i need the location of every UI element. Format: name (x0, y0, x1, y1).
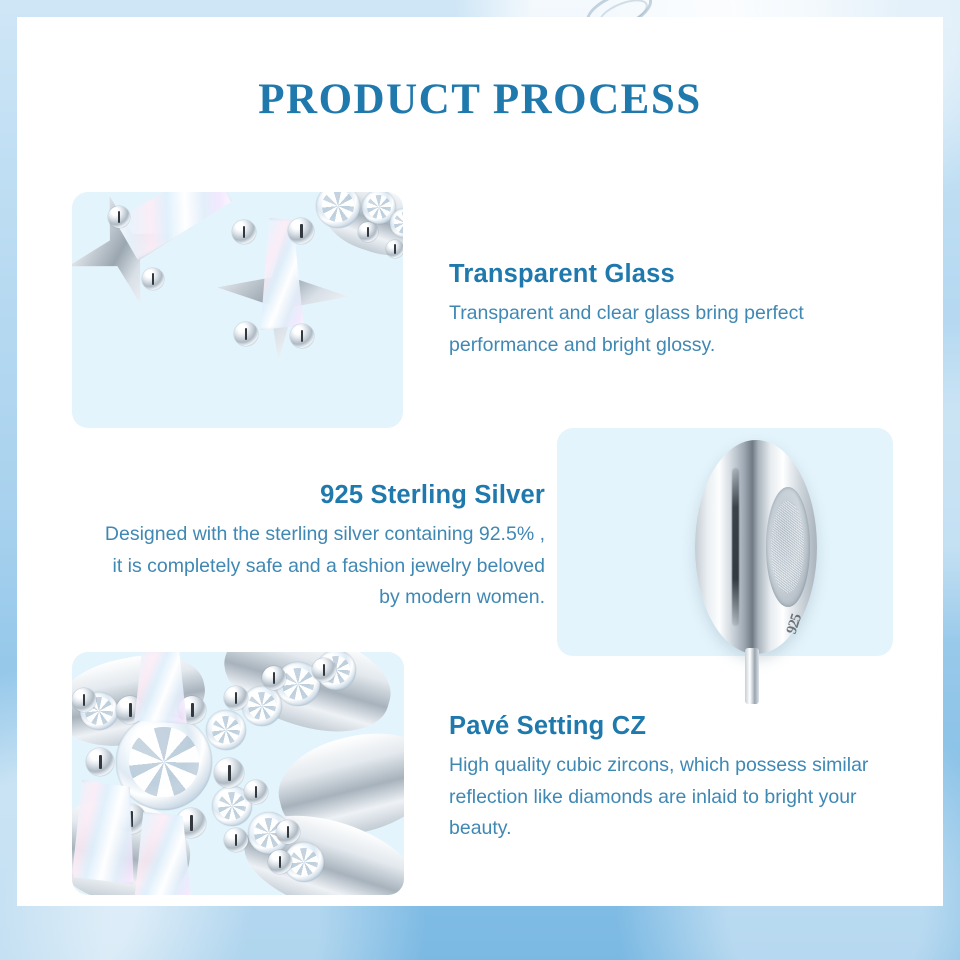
product-process-infographic: PRODUCT PROCESS (0, 0, 960, 960)
prong-bead (358, 222, 378, 242)
feature-text-pave-setting: Pavé Setting CZ High quality cubic zirco… (449, 712, 879, 845)
prong-bead (244, 780, 268, 804)
content-card: PRODUCT PROCESS (17, 17, 943, 906)
prong-bead (288, 218, 314, 244)
prong-bead (224, 686, 248, 710)
feature-heading: Pavé Setting CZ (449, 712, 879, 741)
center-cz-stone (116, 714, 212, 810)
feature-text-transparent-glass: Transparent Glass Transparent and clear … (449, 260, 889, 361)
photo-panel-sterling-silver: 925 (557, 428, 893, 656)
feature-text-sterling-silver: 925 Sterling Silver Designed with the st… (95, 481, 545, 614)
bead-highlight (732, 468, 739, 626)
prong-bead (232, 220, 256, 244)
cz-stone (242, 686, 282, 726)
bead-through-hole (766, 487, 810, 607)
prong-bead (290, 324, 314, 348)
photo-panel-pave-setting (72, 652, 404, 895)
prong-bead (312, 658, 336, 682)
prong-bead (108, 206, 130, 228)
silver-bead-illustration: 925 (695, 440, 817, 654)
page-title: PRODUCT PROCESS (17, 75, 943, 124)
prong-bead (386, 240, 403, 258)
prong-bead (72, 688, 96, 712)
prong-bead (214, 758, 244, 788)
prong-bead (268, 850, 292, 874)
prong-bead (224, 828, 248, 852)
cz-stone (206, 710, 246, 750)
feature-body: High quality cubic zircons, which posses… (449, 750, 879, 845)
bead-stem (745, 648, 759, 704)
prong-bead (86, 748, 114, 776)
prong-bead (234, 322, 258, 346)
prong-bead (276, 820, 300, 844)
prong-bead (142, 268, 164, 290)
transparent-glass-illustration (72, 192, 403, 428)
feature-heading: Transparent Glass (449, 260, 889, 289)
prong-bead (262, 666, 286, 690)
feature-heading: 925 Sterling Silver (95, 481, 545, 510)
photo-panel-transparent-glass (72, 192, 403, 428)
feature-body: Transparent and clear glass bring perfec… (449, 298, 889, 361)
pave-setting-illustration (72, 652, 404, 895)
feature-body: Designed with the sterling silver contai… (95, 519, 545, 614)
